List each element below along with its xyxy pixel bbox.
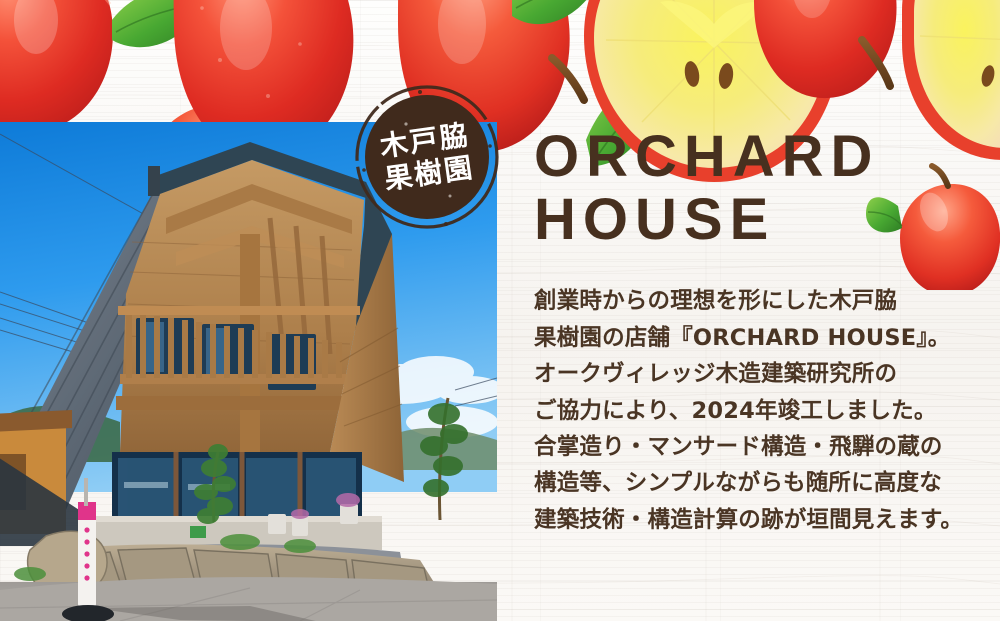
description-paragraph: 創業時からの理想を形にした木戸脇 果樹園の店舗『ORCHARD HOUSE』。 …: [534, 283, 984, 538]
description-line: オークヴィレッジ木造建築研究所の: [534, 356, 984, 392]
headline-line-2: HOUSE: [534, 189, 984, 252]
orchard-house-banner: 木戸脇 果樹園 ORCHARD HOUSE 創業時からの理想を形にした木戸脇 果…: [0, 0, 1000, 621]
description-line: 構造等、シンプルながらも随所に高度な: [534, 465, 984, 501]
description-line: 合掌造り・マンサード構造・飛騨の蔵の: [534, 429, 984, 465]
text-column: ORCHARD HOUSE 創業時からの理想を形にした木戸脇 果樹園の店舗『OR…: [534, 126, 984, 538]
description-line: 創業時からの理想を形にした木戸脇: [534, 283, 984, 319]
description-line: 建築技術・構造計算の跡が垣間見えます。: [534, 502, 984, 538]
headline-line-1: ORCHARD: [534, 126, 984, 189]
description-line: ご協力により、2024年竣工しました。: [534, 393, 984, 429]
orchard-stamp-badge: 木戸脇 果樹園: [354, 84, 500, 230]
stamp-label: 木戸脇 果樹園: [345, 75, 510, 240]
page-title: ORCHARD HOUSE: [534, 126, 984, 251]
description-line: 果樹園の店舗『ORCHARD HOUSE』。: [534, 320, 984, 356]
